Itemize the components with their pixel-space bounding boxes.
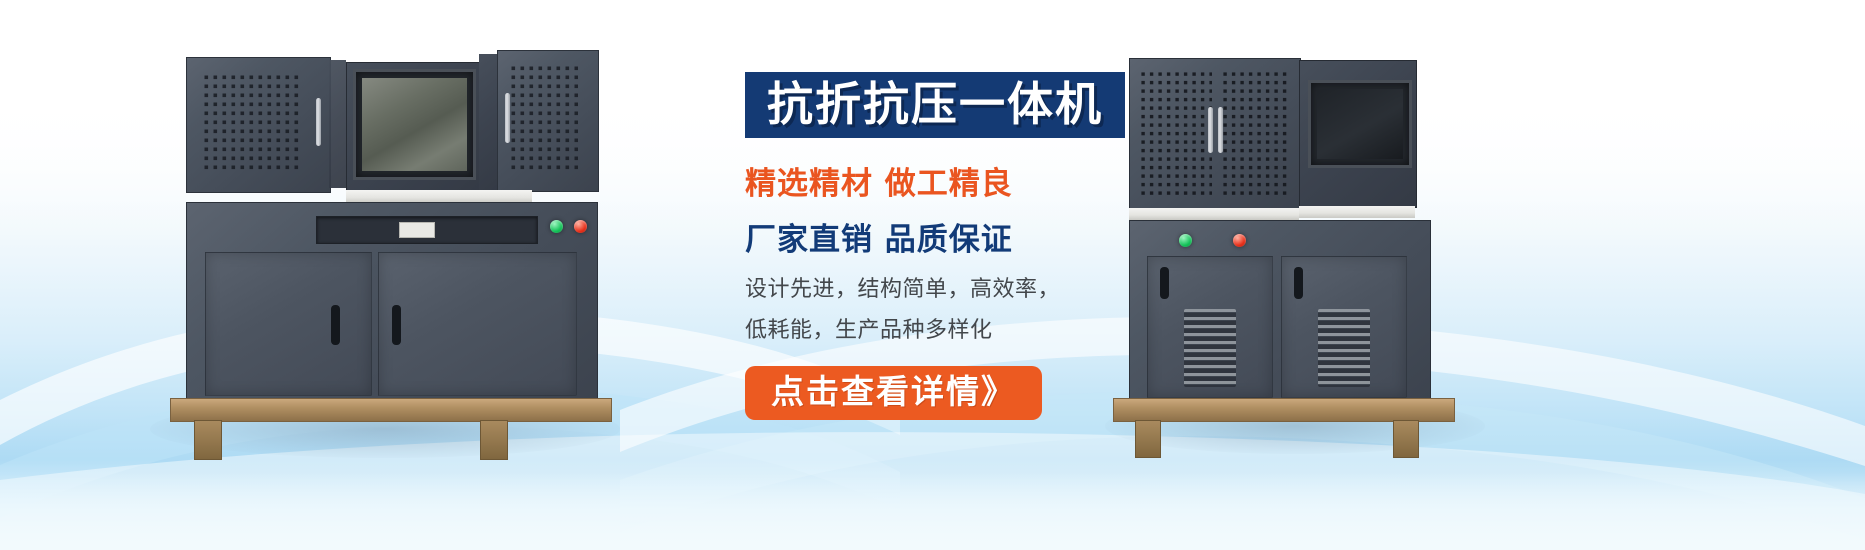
pallet-leg: [480, 420, 508, 460]
perforation-grid: [510, 65, 578, 173]
pallet-leg: [194, 420, 222, 460]
perforation-grid: [203, 74, 301, 174]
upper-right-perforated-cabinet: [497, 50, 599, 192]
cabinet-handle-left[interactable]: [1208, 107, 1213, 153]
cabinet-handle-right[interactable]: [1218, 107, 1223, 153]
control-display-screen[interactable]: [1308, 80, 1412, 168]
pallet-leg: [1393, 420, 1419, 458]
description-line-1: 设计先进，结构简单，高效率，: [745, 271, 1165, 303]
cabinet-side-right: [479, 54, 497, 190]
cabinet-handle[interactable]: [316, 98, 321, 146]
drawer-label: [399, 222, 435, 238]
screen-glass: [362, 78, 467, 171]
ventilation-louvers: [1184, 309, 1236, 387]
door-handle[interactable]: [392, 305, 401, 345]
view-details-button[interactable]: 点击查看详情》: [745, 366, 1042, 420]
lower-cabinet-door-left[interactable]: [205, 252, 372, 396]
description-line-2: 低耗能，生产品种多样化: [745, 312, 1165, 344]
stop-led-red[interactable]: [574, 220, 587, 233]
headline-text: 抗折抗压一体机: [767, 81, 1103, 127]
stop-led-red[interactable]: [1233, 234, 1246, 247]
power-led-green[interactable]: [550, 220, 563, 233]
counter-strip-right: [1299, 206, 1415, 218]
control-drawer[interactable]: [316, 216, 538, 244]
promo-banner: 抗折抗压一体机 精选精材 做工精良 厂家直销 品质保证 设计先进，结构简单，高效…: [0, 0, 1865, 550]
lower-cabinet-door-right[interactable]: [378, 252, 577, 396]
slogan-secondary: 厂家直销 品质保证: [745, 214, 1165, 259]
pallet-leg: [1135, 420, 1161, 458]
lower-cabinet-door-right[interactable]: [1281, 256, 1407, 398]
ventilation-louvers: [1318, 309, 1370, 387]
door-handle[interactable]: [1294, 267, 1303, 299]
perforation-grid-right: [1222, 71, 1290, 197]
lower-cabinet-door-left[interactable]: [1147, 256, 1273, 398]
wooden-pallet: [170, 398, 612, 422]
promo-copy-block: 抗折抗压一体机 精选精材 做工精良 厂家直销 品质保证 设计先进，结构简单，高效…: [745, 72, 1165, 420]
background-bottom-fade: [0, 460, 1865, 550]
screen-glass: [1317, 89, 1403, 159]
door-handle[interactable]: [331, 305, 340, 345]
power-led-green[interactable]: [1179, 234, 1192, 247]
cabinet-handle[interactable]: [505, 93, 510, 143]
flexural-compression-testing-machine-right: [1115, 40, 1465, 440]
control-display-screen[interactable]: [353, 69, 476, 180]
slogan-primary: 精选精材 做工精良: [745, 158, 1165, 203]
flexural-compression-testing-machine-left: [150, 40, 620, 440]
cabinet-side-left: [329, 60, 346, 188]
upper-left-perforated-cabinet: [186, 57, 331, 193]
headline-banner: 抗折抗压一体机: [745, 72, 1125, 138]
view-details-label: 点击查看详情》: [771, 372, 1016, 411]
